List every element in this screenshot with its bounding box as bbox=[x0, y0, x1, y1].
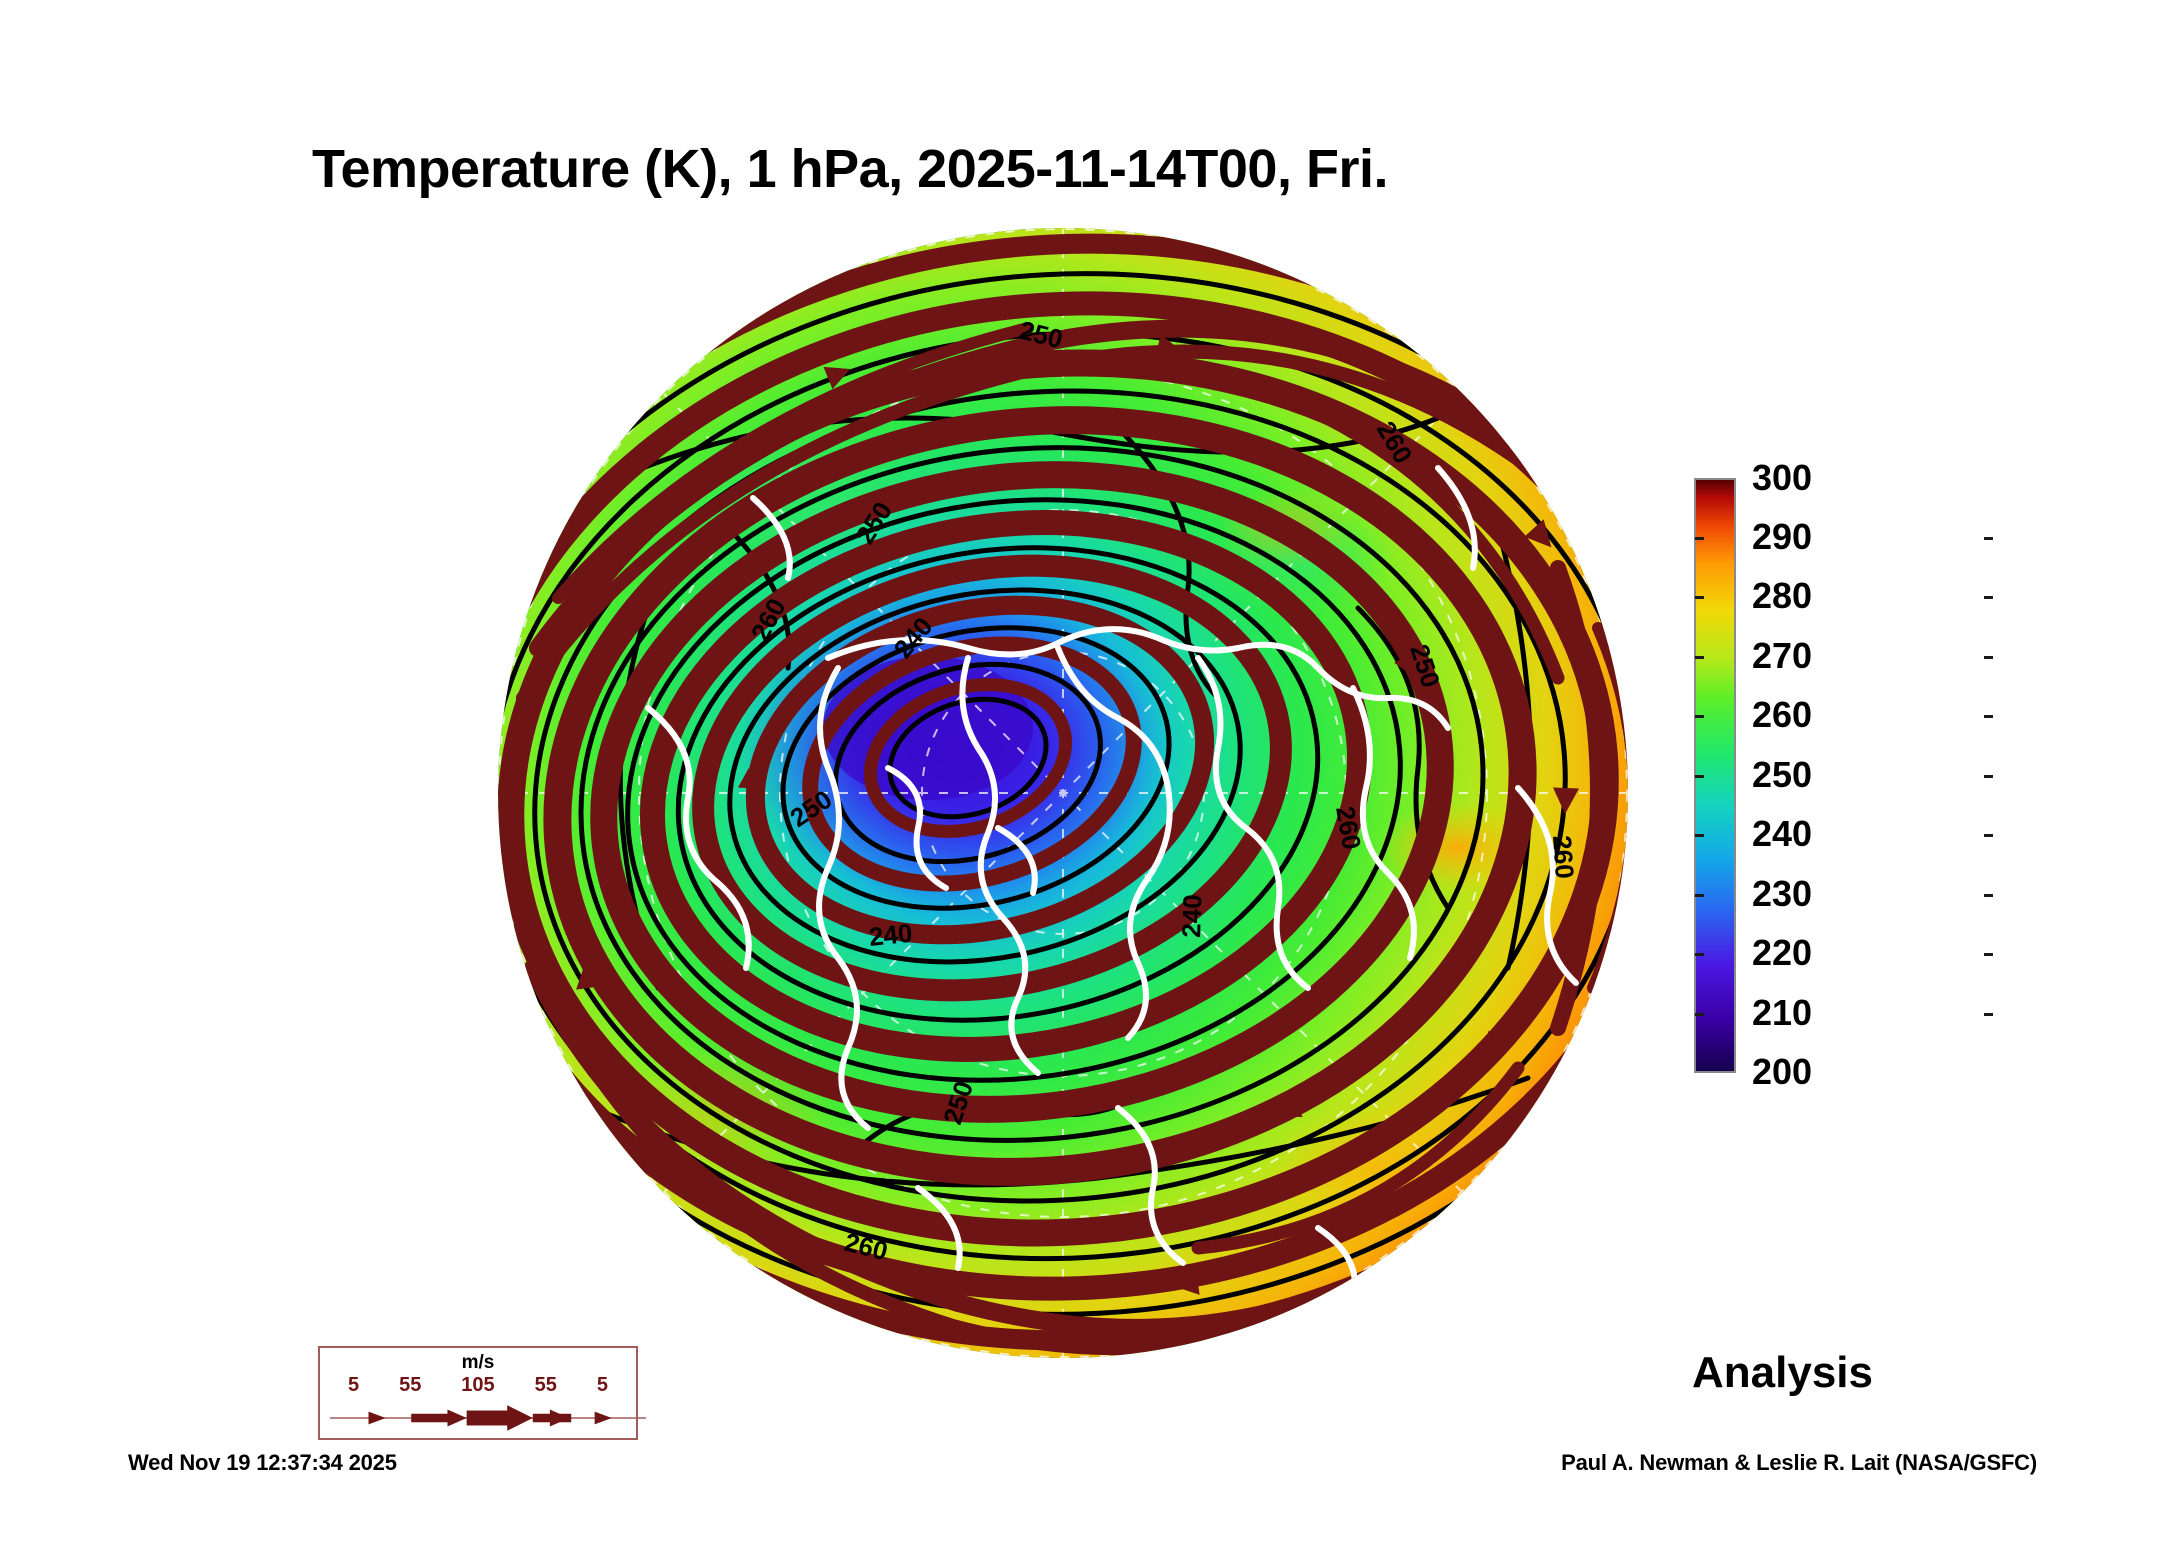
colorbar-tick bbox=[1695, 953, 1704, 956]
colorbar-label-290: 290 bbox=[1752, 516, 1812, 558]
analysis-label: Analysis bbox=[1692, 1348, 1873, 1398]
wind-legend-unit-label: m/s bbox=[320, 1352, 636, 1374]
contour-label-260: 260 bbox=[1547, 834, 1580, 879]
wind-value-55b: 55 bbox=[535, 1374, 557, 1397]
colorbar-tick bbox=[1984, 834, 1993, 837]
colorbar-tick bbox=[1695, 775, 1704, 778]
colorbar-tick bbox=[1984, 537, 1993, 540]
colorbar-tick bbox=[1984, 596, 1993, 599]
colorbar-label-260: 260 bbox=[1752, 694, 1812, 736]
contour-label-240: 240 bbox=[867, 918, 913, 952]
colorbar-tick bbox=[1984, 953, 1993, 956]
map-disc[interactable]: 260 250 240 260 250 250 250 260 250 260 … bbox=[498, 228, 1628, 1358]
colorbar-tick bbox=[1695, 834, 1704, 837]
colorbar-label-240: 240 bbox=[1752, 813, 1812, 855]
contour-label-240: 240 bbox=[1176, 894, 1207, 938]
colorbar-tick bbox=[1984, 656, 1993, 659]
colorbar-label-270: 270 bbox=[1752, 635, 1812, 677]
colorbar-tick bbox=[1984, 715, 1993, 718]
wind-legend-arrow-scale bbox=[328, 1402, 648, 1434]
wind-value-55a: 55 bbox=[399, 1374, 421, 1397]
colorbar-label-210: 210 bbox=[1752, 992, 1812, 1034]
colorbar-label-230: 230 bbox=[1752, 873, 1812, 915]
map-contents: 260 250 240 260 250 250 250 260 250 260 … bbox=[498, 228, 1628, 1358]
map-svg: 260 250 240 260 250 250 250 260 250 260 … bbox=[498, 228, 1628, 1358]
colorbar-label-280: 280 bbox=[1752, 575, 1812, 617]
colorbar-tick bbox=[1984, 894, 1993, 897]
wind-speed-legend[interactable]: m/s 5 55 105 55 5 bbox=[318, 1346, 638, 1440]
colorbar-tick bbox=[1695, 1013, 1704, 1016]
colorbar-tick bbox=[1695, 596, 1704, 599]
wind-value-5a: 5 bbox=[348, 1374, 359, 1397]
wind-legend-values: 5 55 105 55 5 bbox=[320, 1374, 636, 1397]
colorbar-tick bbox=[1695, 537, 1704, 540]
colorbar-label-220: 220 bbox=[1752, 932, 1812, 974]
colorbar-label-300: 300 bbox=[1752, 457, 1812, 499]
colorbar-label-200: 200 bbox=[1752, 1051, 1812, 1093]
colorbar-tick bbox=[1984, 1013, 1993, 1016]
polar-map[interactable]: 260 250 240 260 250 250 250 260 250 260 … bbox=[498, 228, 1628, 1358]
colorbar-tick bbox=[1695, 894, 1704, 897]
generation-timestamp: Wed Nov 19 12:37:34 2025 bbox=[128, 1450, 397, 1476]
author-credit: Paul A. Newman & Leslie R. Lait (NASA/GS… bbox=[1561, 1450, 2037, 1476]
colorbar[interactable]: 300 290 280 270 260 250 240 230 220 210 … bbox=[1694, 478, 1994, 1088]
page-title: Temperature (K), 1 hPa, 2025-11-14T00, F… bbox=[0, 138, 1700, 200]
colorbar-tick bbox=[1695, 715, 1704, 718]
wind-value-105: 105 bbox=[461, 1374, 494, 1397]
colorbar-tick bbox=[1695, 656, 1704, 659]
colorbar-tick bbox=[1984, 775, 1993, 778]
colorbar-label-250: 250 bbox=[1752, 754, 1812, 796]
wind-value-5b: 5 bbox=[597, 1374, 608, 1397]
